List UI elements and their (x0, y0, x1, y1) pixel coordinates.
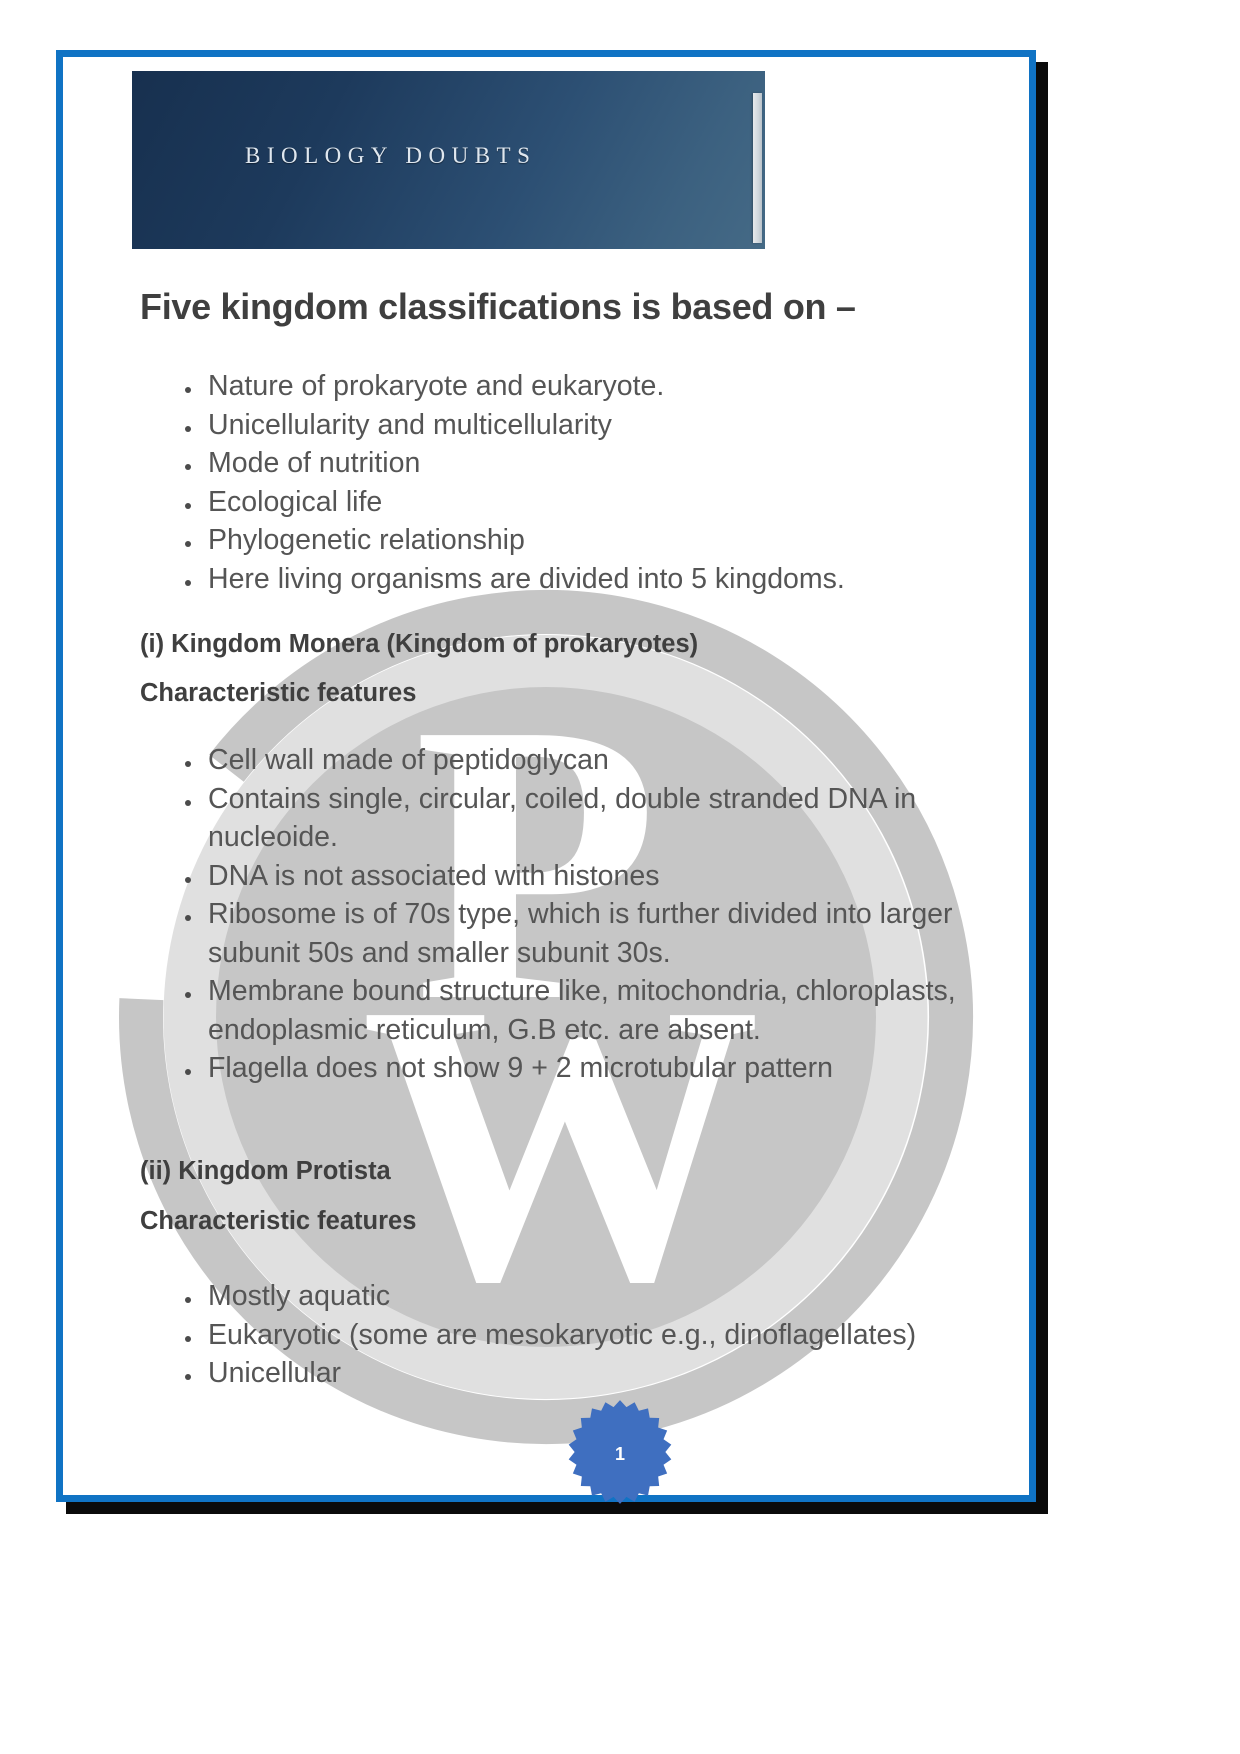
protista-bullet-item: Mostly aquatic (163, 1277, 1003, 1316)
protista-bullet-item: Eukaryotic (some are mesokaryotic e.g., … (163, 1316, 1003, 1355)
monera-bullet-item: Flagella does not show 9 + 2 microtubula… (163, 1049, 1003, 1088)
monera-bullet-item: Ribosome is of 70s type, which is furthe… (163, 895, 1003, 972)
page-number-badge: 1 (566, 1398, 674, 1506)
monera-bullet-item: Contains single, circular, coiled, doubl… (163, 780, 1003, 857)
intro-bullet-item: Unicellularity and multicellularity (163, 406, 1013, 445)
banner-edge-strip (753, 93, 762, 243)
monera-bullet-item: DNA is not associated with histones (163, 857, 1003, 896)
document-page: P W BIOLOGY DOUBTS Five kingdom classifi… (56, 50, 1036, 1502)
header-banner: BIOLOGY DOUBTS (132, 71, 765, 249)
monera-bullet-list: Cell wall made of peptidoglycanContains … (163, 741, 1003, 1088)
intro-bullet-item: Here living organisms are divided into 5… (163, 560, 1013, 599)
banner-title: BIOLOGY DOUBTS (245, 143, 536, 169)
section-heading-monera: (i) Kingdom Monera (Kingdom of prokaryot… (140, 630, 698, 659)
intro-bullet-item: Ecological life (163, 483, 1013, 522)
subheading-characteristics-2: Characteristic features (140, 1207, 416, 1236)
monera-bullet-item: Membrane bound structure like, mitochond… (163, 972, 1003, 1049)
section-heading-protista: (ii) Kingdom Protista (140, 1157, 391, 1186)
intro-bullet-item: Mode of nutrition (163, 444, 1013, 483)
monera-bullet-item: Cell wall made of peptidoglycan (163, 741, 1003, 780)
intro-bullet-item: Phylogenetic relationship (163, 521, 1013, 560)
intro-bullet-item: Nature of prokaryote and eukaryote. (163, 367, 1013, 406)
protista-bullet-list: Mostly aquaticEukaryotic (some are mesok… (163, 1277, 1003, 1393)
protista-bullet-item: Unicellular (163, 1354, 1003, 1393)
subheading-characteristics-1: Characteristic features (140, 679, 416, 708)
page-number-label: 1 (566, 1398, 674, 1506)
intro-bullet-list: Nature of prokaryote and eukaryote.Unice… (163, 367, 1013, 598)
page-title: Five kingdom classifications is based on… (140, 287, 1000, 327)
